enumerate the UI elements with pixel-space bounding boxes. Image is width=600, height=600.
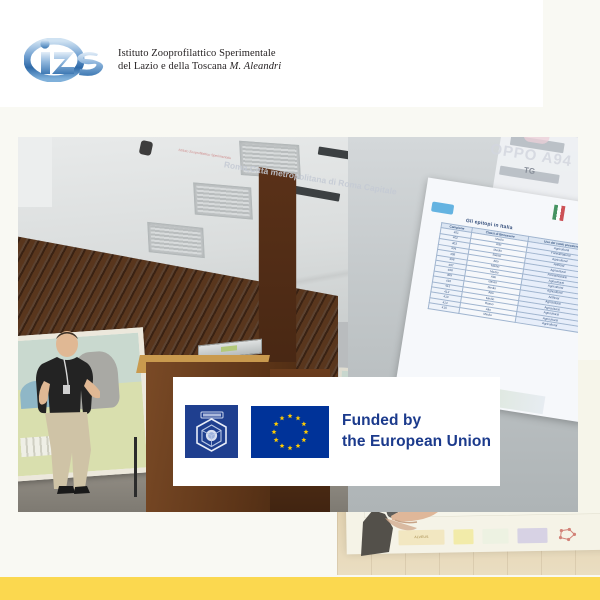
italy-flag-icon (552, 205, 565, 222)
institute-name: Istituto Zooprofilattico Sperimentale de… (118, 47, 281, 74)
eu-funding-text: Funded by the European Union (342, 411, 491, 453)
slide-logo-icon (431, 201, 454, 214)
eu-funding-banner: Funded by the European Union (173, 377, 500, 486)
brand-lockup: Istituto Zooprofilattico Sperimentale de… (24, 38, 281, 82)
header-band: Istituto Zooprofilattico Sperimentale de… (0, 0, 543, 107)
microphone-stand (134, 437, 137, 497)
slide-data-table: Campione Classi di Benessere Uso del suo… (428, 222, 578, 333)
hexagon-partner-logo (185, 405, 238, 458)
institute-name-suffix: M. Aleandri (230, 61, 282, 72)
bottom-accent-bar (0, 577, 600, 600)
izs-logo (24, 38, 108, 82)
ceiling-beam (18, 137, 52, 207)
funding-line-2: the European Union (342, 432, 491, 453)
ceiling-vent (147, 222, 204, 258)
monitor-label-tg: TG (523, 165, 535, 176)
institute-name-line2: del Lazio e della Toscana M. Aleandri (118, 60, 281, 73)
speaker-person (34, 329, 100, 494)
institute-name-line1: Istituto Zooprofilattico Sperimentale (118, 47, 281, 60)
ceiling-vent (193, 182, 253, 219)
european-union-flag (251, 406, 329, 458)
funding-line-1: Funded by (342, 411, 491, 432)
